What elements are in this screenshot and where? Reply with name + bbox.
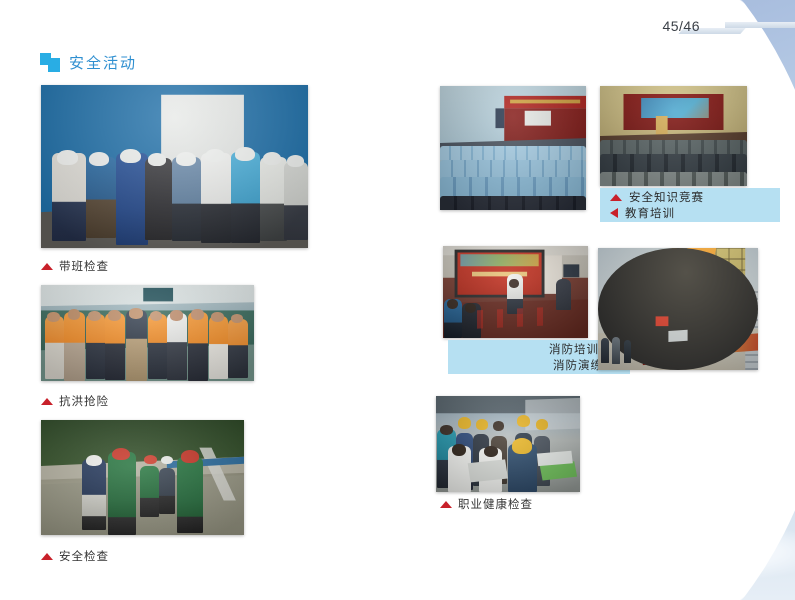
triangle-up-icon: [440, 501, 452, 508]
photo-shift-inspection[interactable]: [41, 85, 308, 248]
caption-band-quiz-training: 安全知识竞赛 教育培训: [600, 188, 780, 222]
photo-health-exam[interactable]: [436, 396, 580, 492]
caption-text: 消防培训: [549, 341, 599, 357]
caption-fire-training: 消防培训: [460, 341, 618, 357]
triangle-up-icon: [41, 263, 53, 270]
caption-text: 教育培训: [625, 205, 675, 221]
caption-shift-inspection: 带班检查: [41, 258, 109, 274]
page-number: 45/46: [662, 18, 700, 34]
caption-text: 消防演练: [553, 357, 603, 373]
caption-text: 安全知识竞赛: [629, 189, 704, 205]
triangle-left-icon: [610, 208, 618, 218]
caption-safety-quiz: 安全知识竞赛: [610, 189, 770, 205]
caption-text: 安全检查: [59, 548, 109, 564]
brochure-page: 45/46 安全活动 带班检查: [0, 0, 795, 600]
triangle-up-icon: [41, 398, 53, 405]
caption-text: 职业健康检查: [458, 496, 533, 512]
photo-flood-rescue[interactable]: [41, 285, 254, 381]
caption-safety-inspection: 安全检查: [41, 548, 109, 564]
square-bullet-icon: [40, 53, 60, 72]
caption-text: 带班检查: [59, 258, 109, 274]
page-title: 安全活动: [69, 52, 137, 73]
caption-flood-rescue: 抗洪抢险: [41, 393, 109, 409]
caption-education-training: 教育培训: [610, 205, 770, 221]
photo-fire-training[interactable]: [443, 246, 588, 338]
triangle-up-icon: [41, 553, 53, 560]
caption-health-exam: 职业健康检查: [440, 496, 533, 512]
triangle-up-icon: [610, 194, 622, 201]
photo-safety-inspection[interactable]: [41, 420, 244, 535]
photo-fire-drill[interactable]: [598, 248, 758, 370]
caption-text: 抗洪抢险: [59, 393, 109, 409]
photo-education-training[interactable]: [440, 86, 586, 210]
section-heading: 安全活动: [40, 52, 137, 73]
photo-safety-quiz[interactable]: [600, 86, 747, 186]
caption-fire-drill: 消防演练: [460, 357, 618, 373]
